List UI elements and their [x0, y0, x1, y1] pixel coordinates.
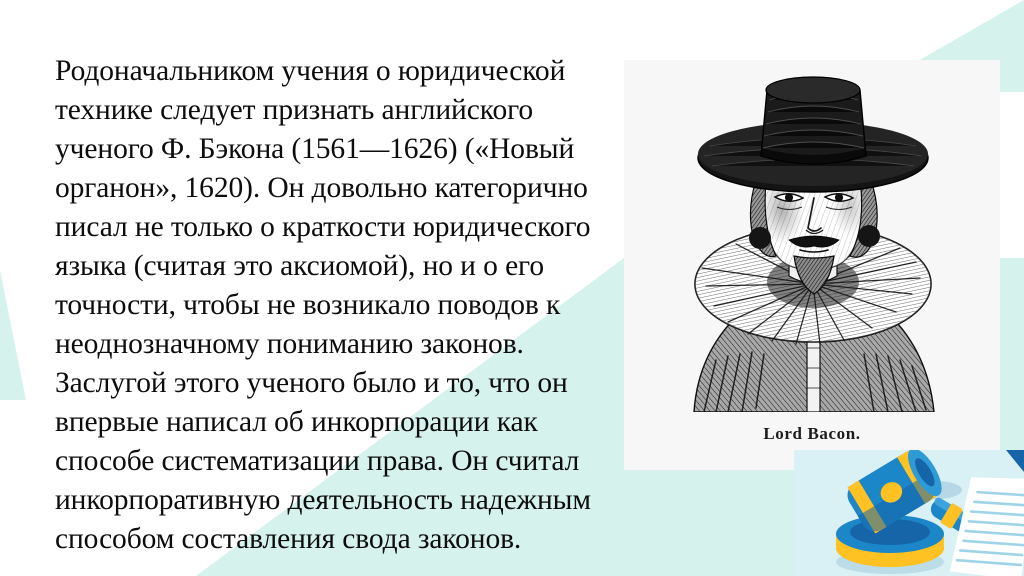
- portrait-caption: Lord Bacon.: [624, 424, 1000, 444]
- presentation-slide: Родоначальником учения о юридической тех…: [0, 0, 1024, 576]
- body-line: точности, чтобы не возникало поводов к: [55, 286, 635, 325]
- body-line: способе систематизации права. Он считал: [55, 442, 635, 481]
- body-line: писал не только о краткости юридического: [55, 208, 635, 247]
- mint-left-sliver: [0, 270, 26, 400]
- francis-bacon-portrait-icon: [624, 60, 1000, 412]
- body-line: органон», 1620). Он довольно категорично: [55, 169, 635, 208]
- body-line: ученого Ф. Бэкона (1561—1626) («Новый: [55, 130, 635, 169]
- body-line: неоднозначному пониманию законов.: [55, 325, 635, 364]
- body-line: языка (считая это аксиомой), но и о его: [55, 247, 635, 286]
- portrait-card: Lord Bacon.: [624, 60, 1000, 470]
- body-line: Родоначальником учения о юридической: [55, 52, 635, 91]
- gavel-illustration-icon: [794, 450, 1024, 576]
- body-line: впервые написал об инкорпорации как: [55, 403, 635, 442]
- body-line: способом составления свода законов.: [55, 520, 635, 559]
- body-line: инкорпоративную деятельность надежным: [55, 481, 635, 520]
- slide-body-text: Родоначальником учения о юридической тех…: [55, 52, 635, 559]
- body-line: технике следует признать английского: [55, 91, 635, 130]
- body-line: Заслугой этого ученого было и то, что он: [55, 364, 635, 403]
